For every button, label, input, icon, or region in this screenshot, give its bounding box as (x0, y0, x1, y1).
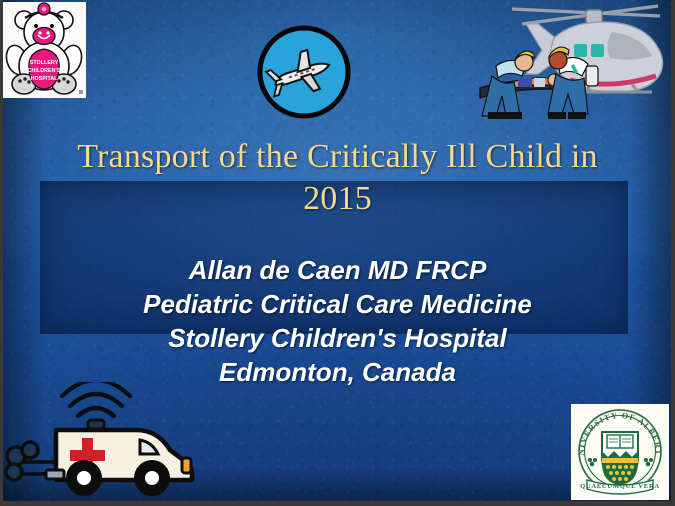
title-line-2: 2015 (18, 178, 657, 220)
subtitle-line-presenter: Allan de Caen MD FRCP (0, 253, 675, 287)
stollery-childrens-hospital-logo: STOLLERY CHILDREN'S HOSPITAL (2, 2, 86, 98)
airplane-roundel-icon (255, 24, 353, 120)
subtitle-line-hospital: Stollery Children's Hospital (0, 321, 675, 355)
slide-title: Transport of the Critically Ill Child in… (0, 136, 675, 220)
air-ambulance-helicopter-illustration (462, 0, 675, 126)
crest-motto-text: QUAECUMQUE VERA (580, 483, 660, 490)
subtitle-line-department: Pediatric Critical Care Medicine (0, 287, 675, 321)
slide-subtitle: Allan de Caen MD FRCP Pediatric Critical… (0, 253, 675, 389)
bear-logo-text-line3: HOSPITAL (31, 76, 59, 82)
bear-logo-text-line2: CHILDREN'S (28, 68, 61, 74)
bear-logo-text-line1: STOLLERY (30, 60, 59, 66)
title-line-1: Transport of the Critically Ill Child in (18, 136, 657, 178)
ambulance-illustration (0, 382, 210, 506)
presentation-slide: Transport of the Critically Ill Child in… (0, 0, 675, 506)
university-of-alberta-crest: UNIVERSITY OF ALBERTA (571, 404, 669, 500)
